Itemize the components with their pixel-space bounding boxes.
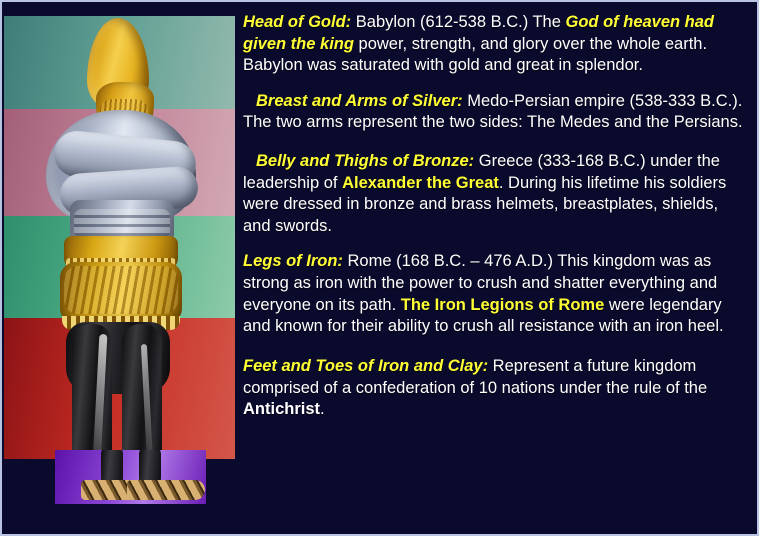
silver-abdomen-texture bbox=[74, 209, 170, 239]
lead-legs-of-iron: Legs of Iron: bbox=[243, 252, 343, 270]
lead-belly-and-thighs-of-bronze: Belly and Thighs of Bronze: bbox=[256, 152, 474, 170]
paragraph-belly-and-thighs-of-bronze: Belly and Thighs of Bronze: Greece (333-… bbox=[243, 151, 745, 237]
body-feet-2: . bbox=[320, 400, 325, 418]
emphasis-iron-legions-of-rome: The Iron Legions of Rome bbox=[401, 296, 605, 314]
paragraph-legs-of-iron: Legs of Iron: Rome (168 B.C. – 476 A.D.)… bbox=[243, 251, 745, 337]
statue-image-panel bbox=[4, 4, 235, 536]
feet-closeup-inset bbox=[55, 450, 206, 504]
inset-right-clay-foot bbox=[127, 480, 205, 500]
slide-root: Head of Gold: Babylon (612-538 B.C.) The… bbox=[0, 0, 759, 536]
lead-head-of-gold: Head of Gold: bbox=[243, 13, 351, 31]
body-head-of-gold-1: Babylon (612-538 B.C.) The bbox=[351, 13, 565, 31]
emphasis-alexander-the-great: Alexander the Great bbox=[342, 174, 499, 192]
lead-feet-and-toes: Feet and Toes of Iron and Clay: bbox=[243, 357, 488, 375]
paragraph-breast-and-arms-of-silver: Breast and Arms of Silver: Medo-Persian … bbox=[243, 91, 745, 134]
emphasis-antichrist: Antichrist bbox=[243, 400, 320, 418]
paragraph-head-of-gold: Head of Gold: Babylon (612-538 B.C.) The… bbox=[243, 12, 745, 77]
bronze-skirt-zigzag-texture bbox=[64, 266, 178, 314]
paragraph-feet-and-toes-of-iron-and-clay: Feet and Toes of Iron and Clay: Represen… bbox=[243, 356, 745, 421]
lead-breast-and-arms-of-silver: Breast and Arms of Silver: bbox=[256, 92, 463, 110]
explanation-text-panel: Head of Gold: Babylon (612-538 B.C.) The… bbox=[235, 4, 759, 536]
